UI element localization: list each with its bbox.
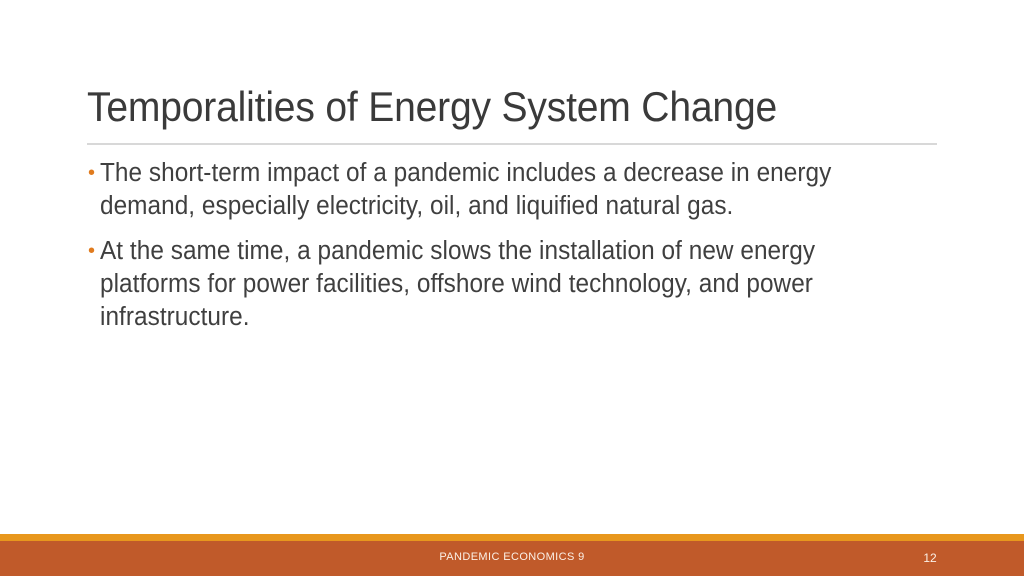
list-item: • At the same time, a pandemic slows the… xyxy=(88,235,933,334)
page-number: 12 xyxy=(906,551,954,565)
list-item: • The short-term impact of a pandemic in… xyxy=(88,157,933,223)
footer-accent-stripe xyxy=(0,534,1024,541)
list-item-text: The short-term impact of a pandemic incl… xyxy=(100,157,896,223)
footer-label: PANDEMIC ECONOMICS 9 xyxy=(0,551,1024,563)
title-placeholder: Temporalities of Energy System Change xyxy=(87,82,937,140)
list-item-text: At the same time, a pandemic slows the i… xyxy=(100,235,896,334)
bullet-dot-icon: • xyxy=(88,157,100,190)
page-title: Temporalities of Energy System Change xyxy=(87,82,878,132)
slide-canvas: Temporalities of Energy System Change • … xyxy=(0,0,1024,576)
bullet-dot-icon: • xyxy=(88,235,100,268)
title-divider xyxy=(87,143,937,145)
content-placeholder: • The short-term impact of a pandemic in… xyxy=(88,157,933,346)
